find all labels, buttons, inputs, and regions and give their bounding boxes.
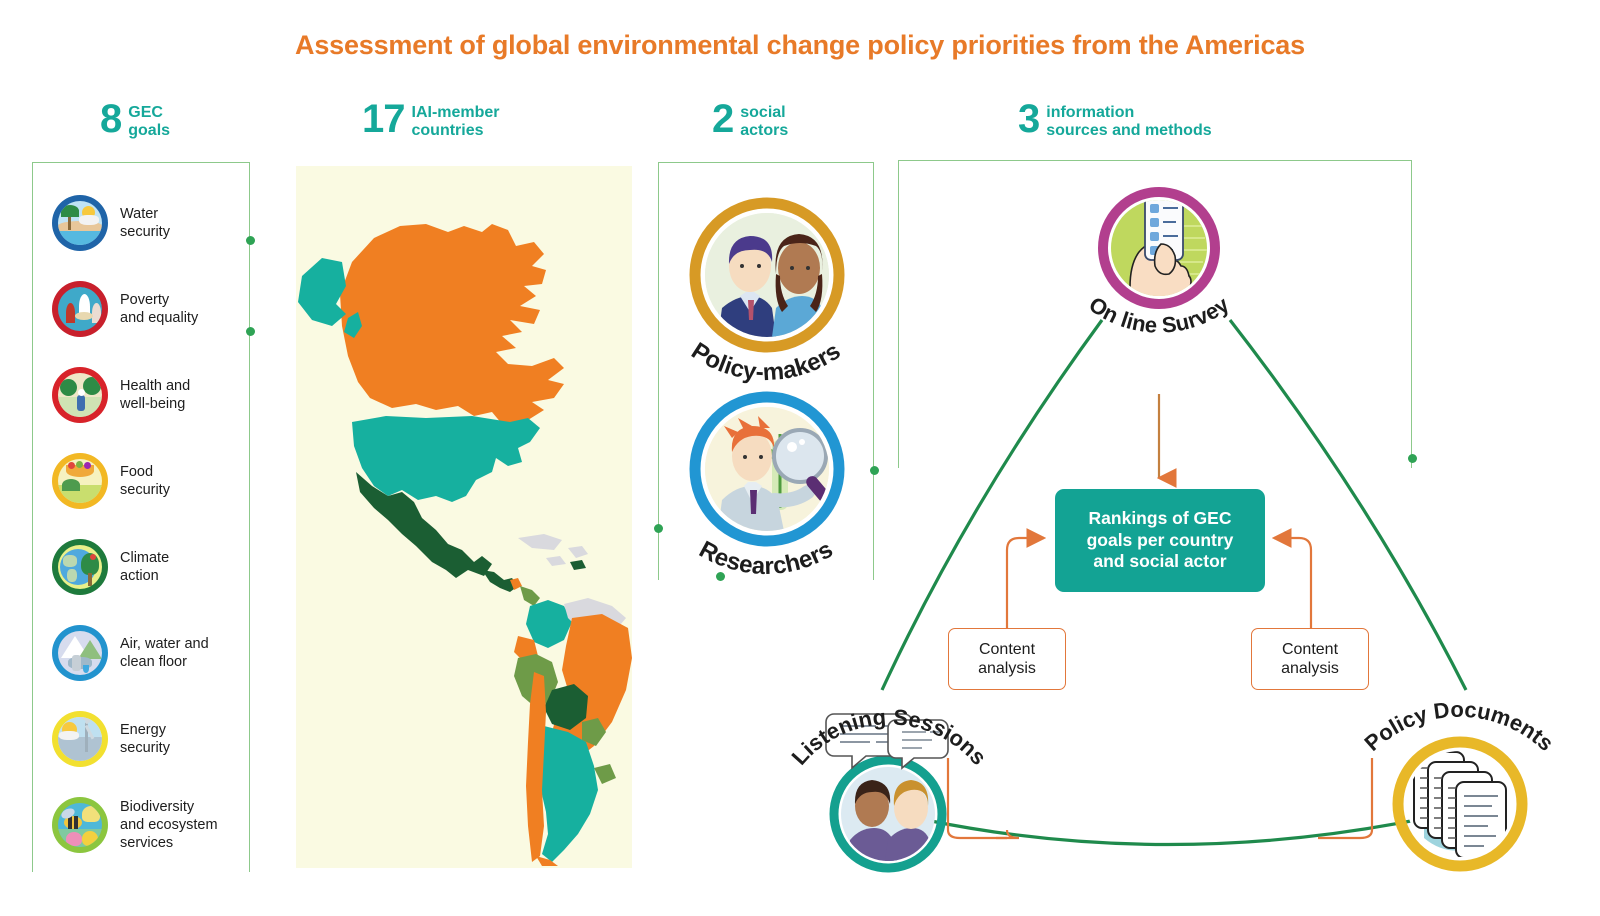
goal-label: Energy security xyxy=(120,721,170,757)
goal-item-health-and-well-being[interactable]: Health and well-being xyxy=(52,352,252,438)
goal-label: Food security xyxy=(120,463,170,499)
column-header-countries: 17 IAI-member countries xyxy=(362,100,500,140)
goal-item-poverty-and-equality[interactable]: Poverty and equality xyxy=(52,266,252,352)
goals-count: 8 xyxy=(100,100,121,138)
poverty-equality-icon xyxy=(52,281,108,337)
goals-label: GEC goals xyxy=(128,100,170,140)
goal-item-energy-security[interactable]: Energy security xyxy=(52,696,252,782)
content-analysis-right-box: Content analysis xyxy=(1251,628,1369,690)
goal-label: Air, water and clean floor xyxy=(120,635,209,671)
content-analysis-left-box: Content analysis xyxy=(948,628,1066,690)
sources-label: information sources and methods xyxy=(1046,100,1211,140)
bracket-dot xyxy=(654,524,663,533)
source-listening-sessions[interactable]: Listening Sessions xyxy=(828,754,948,874)
goal-label: Biodiversity and ecosystem services xyxy=(120,798,218,852)
water-security-icon xyxy=(52,195,108,251)
column-header-goals: 8 GEC goals xyxy=(100,100,170,140)
researchers-icon xyxy=(688,390,846,548)
policy-makers-icon xyxy=(688,196,846,354)
countries-label: IAI-member countries xyxy=(412,100,500,140)
actors-label: social actors xyxy=(740,100,788,140)
gec-goals-list: Water security Poverty and equality xyxy=(52,180,252,868)
goal-item-climate-action[interactable]: Climate action xyxy=(52,524,252,610)
speech-bubbles-icon xyxy=(824,706,956,776)
climate-action-icon xyxy=(52,539,108,595)
source-policy-documents[interactable]: Policy Documents xyxy=(1390,734,1530,874)
goal-item-food-security[interactable]: Food security xyxy=(52,438,252,524)
food-security-icon xyxy=(52,453,108,509)
column-header-sources: 3 information sources and methods xyxy=(1018,100,1212,140)
sources-count: 3 xyxy=(1018,100,1039,138)
diagram-orange-legs xyxy=(900,680,1420,840)
energy-security-icon xyxy=(52,711,108,767)
biodiversity-icon xyxy=(52,797,108,853)
goal-item-water-security[interactable]: Water security xyxy=(52,180,252,266)
policy-documents-icon xyxy=(1390,734,1530,874)
social-actor-researchers[interactable]: Researchers xyxy=(688,390,846,548)
goal-item-air-water-clean-floor[interactable]: Air, water and clean floor xyxy=(52,610,252,696)
goal-label: Poverty and equality xyxy=(120,291,198,327)
social-actor-policy-makers[interactable]: Policy-makers xyxy=(688,196,846,354)
bracket-dot xyxy=(1408,454,1417,463)
goal-label: Health and well-being xyxy=(120,377,190,413)
online-survey-icon xyxy=(1097,186,1221,310)
countries-count: 17 xyxy=(362,100,405,138)
goal-item-biodiversity[interactable]: Biodiversity and ecosystem services xyxy=(52,782,252,868)
rankings-box: Rankings of GEC goals per country and so… xyxy=(1055,489,1265,592)
bracket-dot xyxy=(870,466,879,475)
health-wellbeing-icon xyxy=(52,367,108,423)
goal-label: Water security xyxy=(120,205,170,241)
americas-map[interactable] xyxy=(296,166,632,868)
goal-label: Climate action xyxy=(120,549,169,585)
page-title: Assessment of global environmental chang… xyxy=(0,30,1600,61)
source-online-survey[interactable]: On line Survey xyxy=(1097,186,1221,310)
bracket-dot xyxy=(716,572,725,581)
air-water-clean-icon xyxy=(52,625,108,681)
americas-map-svg xyxy=(296,166,632,868)
actors-count: 2 xyxy=(712,100,733,138)
column-header-actors: 2 social actors xyxy=(712,100,788,140)
